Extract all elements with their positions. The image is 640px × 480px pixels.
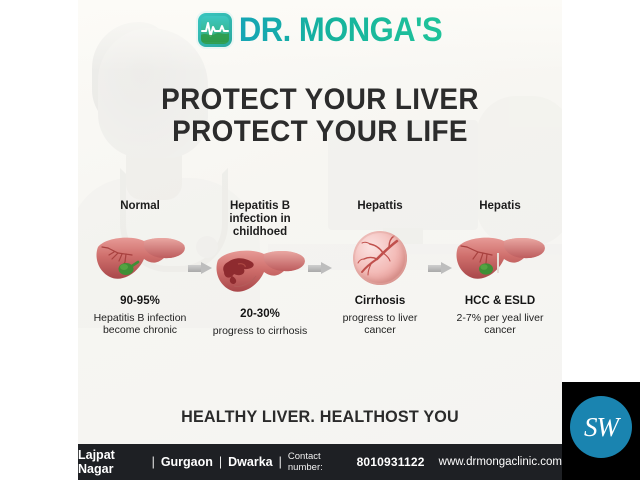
stage-stat: HCC & ESLD [452, 295, 548, 308]
liver-cancer-icon [452, 229, 548, 291]
footer-separator: | [279, 455, 282, 469]
stage-stat: 20-30% [212, 308, 308, 321]
headline-line-2: PROTECT YOUR LIFE [95, 116, 545, 148]
arrow-right-icon [308, 262, 332, 275]
contact-label: Contact number: [288, 451, 351, 473]
stage-title: Normal [92, 200, 188, 226]
footer-separator: | [219, 455, 222, 469]
logo-mark [198, 13, 232, 47]
watermark-circle: SW [570, 396, 632, 458]
tagline: HEALTHY LIVER. HEALTHOST YOU [90, 407, 550, 427]
website-link[interactable]: www.drmongaclinic.com [439, 456, 562, 468]
stage-description: progress to cirrhosis [212, 325, 308, 337]
arrow-right-icon [428, 262, 452, 275]
stage-item: Hepatitis B infection in childhoed 20-30… [212, 200, 308, 337]
footer-separator: | [152, 455, 155, 469]
poster: DR. MONGA'S PROTECT YOUR LIVER PROTECT Y… [0, 0, 640, 480]
poster-canvas: DR. MONGA'S PROTECT YOUR LIVER PROTECT Y… [78, 0, 562, 480]
stage-title: Hepattis [332, 200, 428, 226]
watermark-badge: SW [562, 382, 640, 480]
headline-line-1: PROTECT YOUR LIVER [95, 84, 545, 116]
cirrhosis-closeup-icon [332, 229, 428, 291]
footer-city-3: Dwarka [228, 455, 272, 469]
progression-arrow [428, 200, 452, 275]
progression-arrow [188, 200, 212, 275]
contact-footer: Lajpat Nagar | Gurgaon | Dwarka | Contac… [78, 444, 562, 480]
stage-stat: Cirrhosis [332, 295, 428, 308]
brand-logo: DR. MONGA'S [78, 12, 562, 48]
stage-stat: 90-95% [92, 295, 188, 308]
stage-title: Hepatitis B infection in childhoed [212, 200, 308, 239]
arrow-right-icon [188, 262, 212, 275]
stage-description: 2-7% per yeal liver cancer [452, 312, 548, 337]
liver-normal-icon [92, 229, 188, 291]
ecg-heartbeat-icon [201, 16, 229, 44]
stage-title: Hepatis [452, 200, 548, 226]
footer-city-2: Gurgaon [161, 455, 213, 469]
stage-item: Hepattis [332, 200, 428, 337]
stage-item: Normal [92, 200, 188, 337]
footer-city-1: Lajpat Nagar [78, 448, 146, 476]
liver-infected-icon [212, 242, 308, 304]
logo-text: DR. MONGA'S [239, 10, 442, 50]
cirrhosis-circle [353, 231, 407, 285]
stage-description: Hepatitis B infection become chronic [92, 312, 188, 337]
phone-number[interactable]: 8010931122 [357, 455, 425, 469]
disease-progression-diagram: Normal [92, 200, 548, 337]
page-title: PROTECT YOUR LIVER PROTECT YOUR LIFE [95, 84, 545, 148]
stage-description: progress to liver cancer [332, 312, 428, 337]
progression-arrow [308, 200, 332, 275]
stage-item: Hepatis HCC & ESLD 2-7% [452, 200, 548, 337]
watermark-text: SW [584, 412, 618, 443]
